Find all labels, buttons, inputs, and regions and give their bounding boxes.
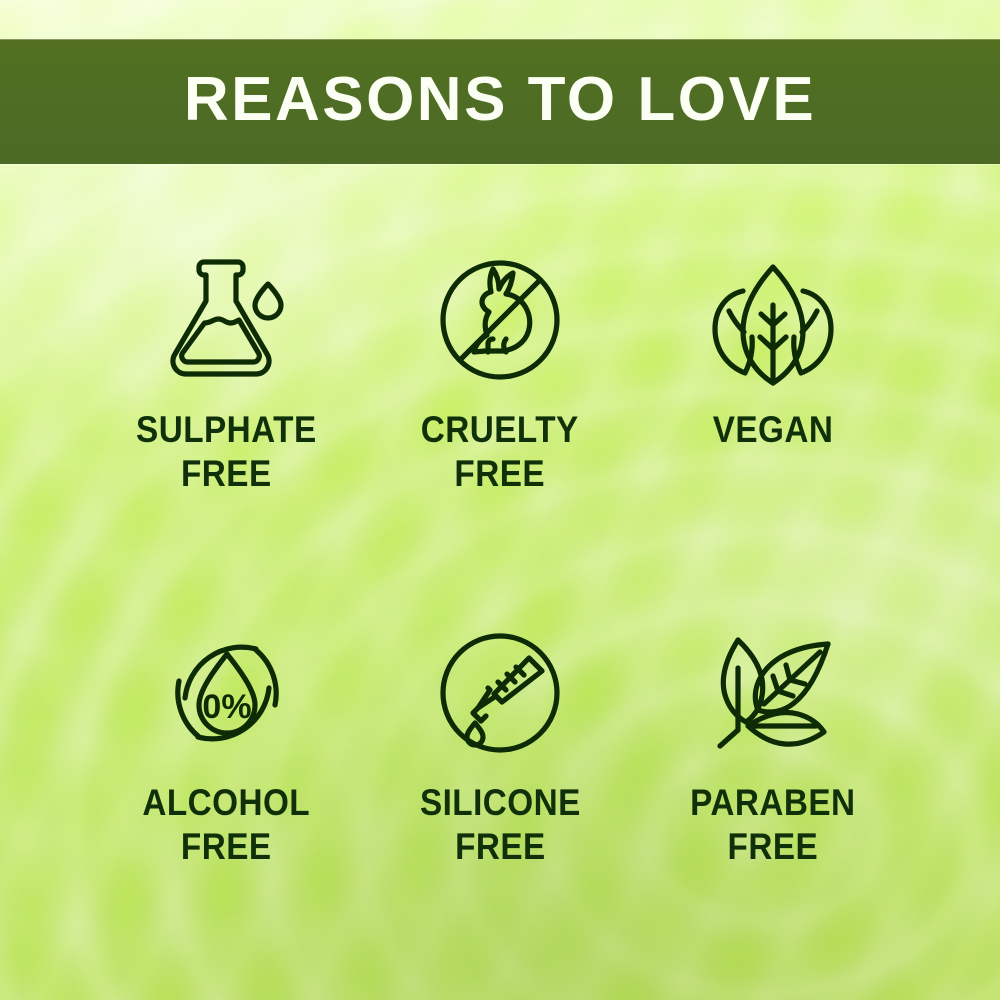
badge-vegan: VEGAN bbox=[643, 250, 903, 495]
badge-label-line2: FREE bbox=[143, 825, 311, 869]
badge-label-silicone-free: SILICONE FREE bbox=[420, 781, 581, 868]
dropper-pipette-icon bbox=[433, 623, 567, 763]
badge-label-line2: FREE bbox=[420, 825, 581, 869]
zero-percent-text: 0% bbox=[202, 688, 251, 726]
badge-label-line1: CRUELTY bbox=[421, 409, 579, 450]
badge-label-line2: FREE bbox=[691, 825, 856, 869]
benefits-grid: SULPHATE FREE CRUELTY FREE bbox=[90, 250, 910, 869]
badge-label-line2: FREE bbox=[136, 452, 317, 496]
page-title: REASONS TO LOVE bbox=[184, 69, 816, 131]
badge-label-vegan: VEGAN bbox=[713, 408, 834, 452]
badge-label-line1: SULPHATE bbox=[136, 409, 317, 450]
badge-label-line1: VEGAN bbox=[713, 409, 834, 450]
badge-label-cruelty-free: CRUELTY FREE bbox=[421, 408, 579, 495]
badge-paraben-free: PARABEN FREE bbox=[643, 623, 903, 868]
badge-cruelty-free: CRUELTY FREE bbox=[370, 250, 630, 495]
badge-alcohol-free: 0% ALCOHOL FREE bbox=[97, 623, 357, 868]
flask-droplet-icon bbox=[162, 250, 292, 390]
leaf-sprig-icon bbox=[702, 623, 844, 763]
no-rabbit-icon bbox=[433, 250, 567, 390]
badge-silicone-free: SILICONE FREE bbox=[370, 623, 630, 868]
zero-percent-droplet-icon: 0% bbox=[160, 623, 294, 763]
badge-sulphate-free: SULPHATE FREE bbox=[97, 250, 357, 495]
badge-label-alcohol-free: ALCOHOL FREE bbox=[143, 781, 311, 868]
badge-label-line1: SILICONE bbox=[420, 782, 581, 823]
header-banner: REASONS TO LOVE bbox=[0, 40, 1000, 164]
badge-label-line1: ALCOHOL bbox=[143, 782, 311, 823]
reasons-to-love-poster: REASONS TO LOVE SULPHATE FREE bbox=[0, 0, 1000, 1000]
badge-label-paraben-free: PARABEN FREE bbox=[691, 781, 856, 868]
three-leaves-icon bbox=[703, 250, 843, 390]
badge-label-sulphate-free: SULPHATE FREE bbox=[136, 408, 317, 495]
badge-label-line1: PARABEN bbox=[691, 782, 856, 823]
badge-label-line2: FREE bbox=[421, 452, 579, 496]
